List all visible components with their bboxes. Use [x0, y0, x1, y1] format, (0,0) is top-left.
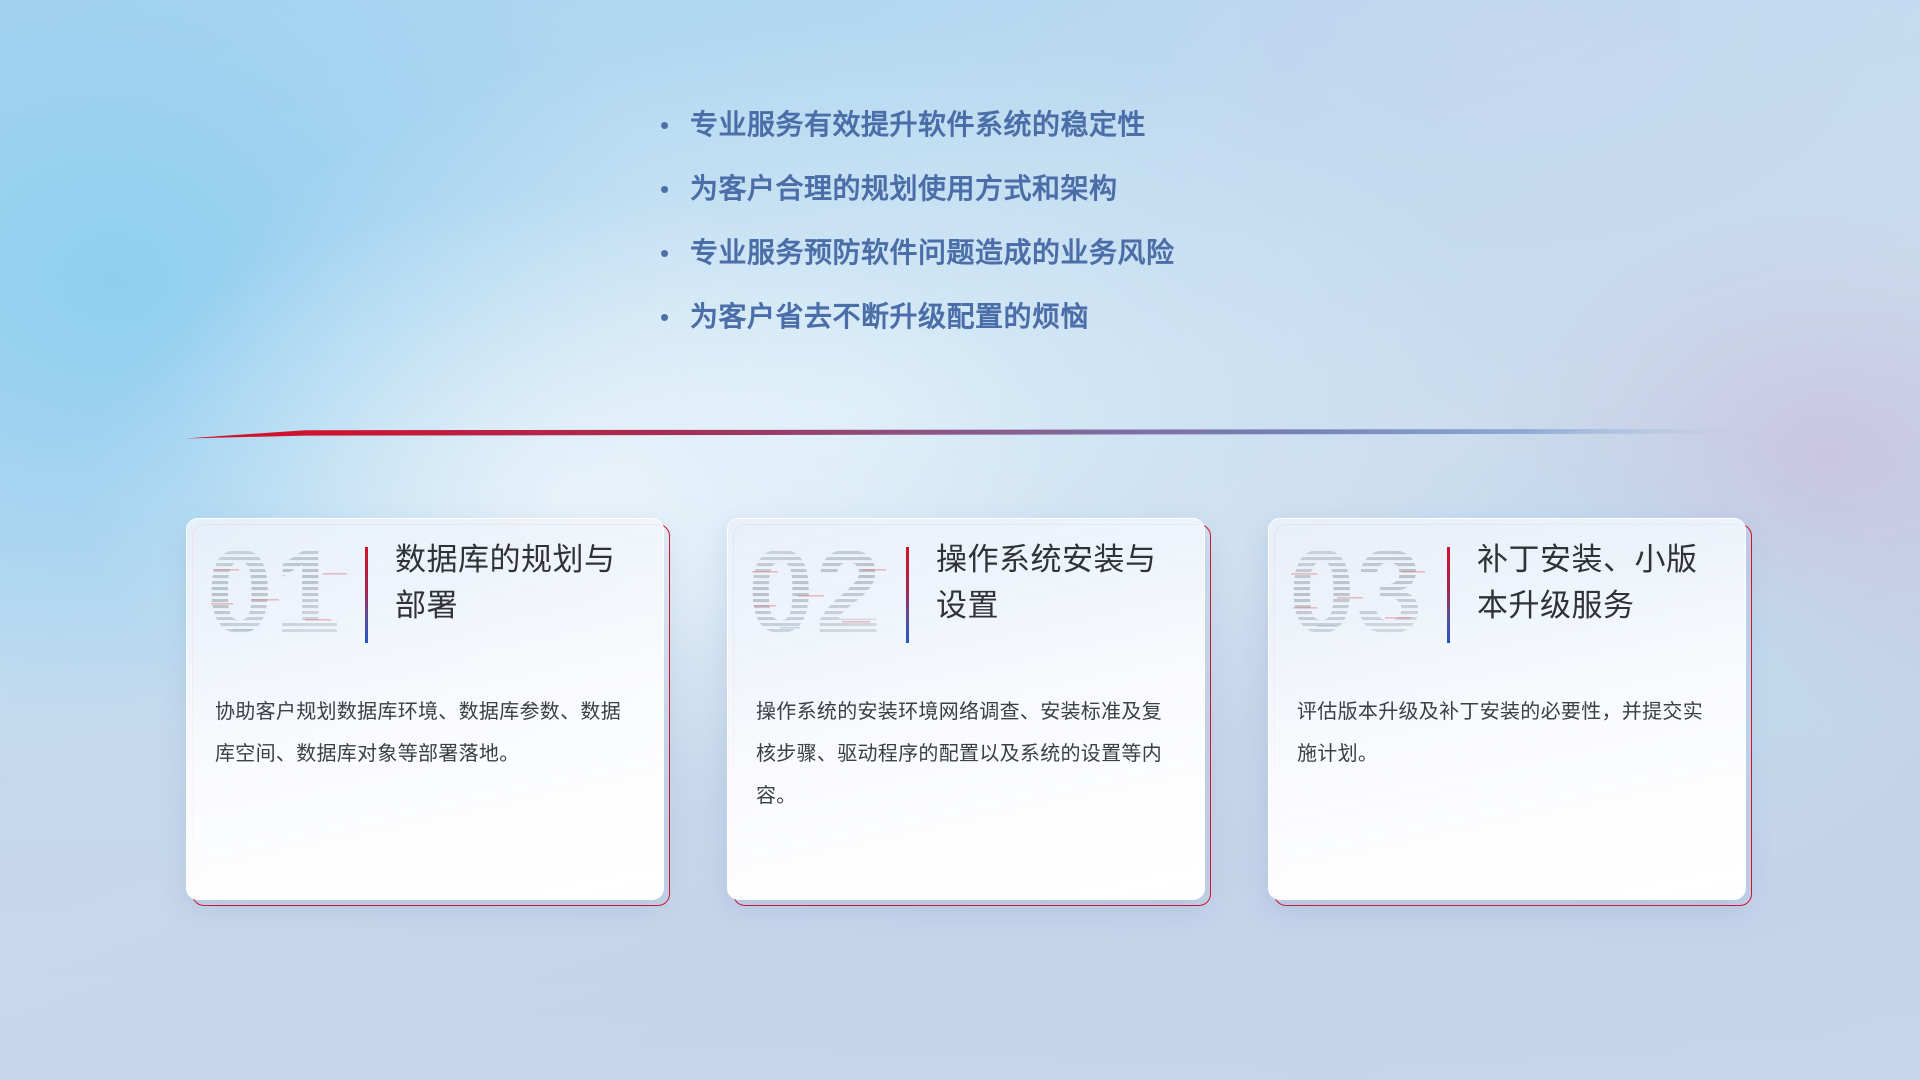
striped-numeral-icon: 01 [205, 533, 353, 655]
list-item: • 专业服务预防软件问题造成的业务风险 [660, 232, 1420, 274]
card-number-02-graphic: 02 [746, 533, 894, 655]
bullet-dot-icon: • [660, 168, 690, 210]
bullet-text: 专业服务有效提升软件系统的稳定性 [690, 104, 1146, 146]
card-title-separator [906, 547, 909, 643]
svg-text:01: 01 [207, 533, 342, 655]
bullet-dot-icon: • [660, 232, 690, 274]
card-title: 数据库的规划与部署 [395, 537, 645, 629]
card-number-01-graphic: 01 [205, 533, 353, 655]
list-item: • 专业服务有效提升软件系统的稳定性 [660, 104, 1420, 146]
card-number-03-graphic: 03 [1287, 533, 1435, 655]
card-header: 03 补丁安装、 [1269, 519, 1745, 667]
svg-text:02: 02 [748, 533, 883, 655]
list-item: • 为客户合理的规划使用方式和架构 [660, 168, 1420, 210]
service-card-row: 01 数据库的规 [186, 518, 1746, 918]
card-description: 评估版本升级及补丁安装的必要性，并提交实施计划。 [1297, 691, 1717, 775]
bullet-dot-icon: • [660, 104, 690, 146]
list-item: • 为客户省去不断升级配置的烦恼 [660, 296, 1420, 338]
striped-numeral-icon: 02 [746, 533, 894, 655]
service-card-01[interactable]: 01 数据库的规 [186, 518, 664, 900]
card-title: 操作系统安装与设置 [936, 537, 1186, 629]
card-surface: 01 数据库的规 [186, 518, 664, 900]
service-card-02[interactable]: 02 操作系统安 [727, 518, 1205, 900]
bullet-text: 专业服务预防软件问题造成的业务风险 [690, 232, 1175, 274]
card-description: 协助客户规划数据库环境、数据库参数、数据库空间、数据库对象等部署落地。 [215, 691, 635, 775]
card-surface: 02 操作系统安 [727, 518, 1205, 900]
slide-canvas: • 专业服务有效提升软件系统的稳定性 • 为客户合理的规划使用方式和架构 • 专… [0, 0, 1920, 1080]
bullet-text: 为客户省去不断升级配置的烦恼 [690, 296, 1089, 338]
card-title: 补丁安装、小版本升级服务 [1477, 537, 1727, 629]
card-surface: 03 补丁安装、 [1268, 518, 1746, 900]
section-divider [185, 424, 1745, 446]
divider-shape-icon [185, 424, 1745, 446]
bullet-text: 为客户合理的规划使用方式和架构 [690, 168, 1118, 210]
card-title-separator [1447, 547, 1450, 643]
benefit-bullet-list: • 专业服务有效提升软件系统的稳定性 • 为客户合理的规划使用方式和架构 • 专… [660, 104, 1420, 360]
card-header: 02 操作系统安 [728, 519, 1204, 667]
card-title-separator [365, 547, 368, 643]
bullet-dot-icon: • [660, 296, 690, 338]
striped-numeral-icon: 03 [1287, 533, 1435, 655]
svg-text:03: 03 [1289, 533, 1424, 655]
service-card-03[interactable]: 03 补丁安装、 [1268, 518, 1746, 900]
card-header: 01 数据库的规 [187, 519, 663, 667]
card-description: 操作系统的安装环境网络调查、安装标准及复核步骤、驱动程序的配置以及系统的设置等内… [756, 691, 1176, 817]
